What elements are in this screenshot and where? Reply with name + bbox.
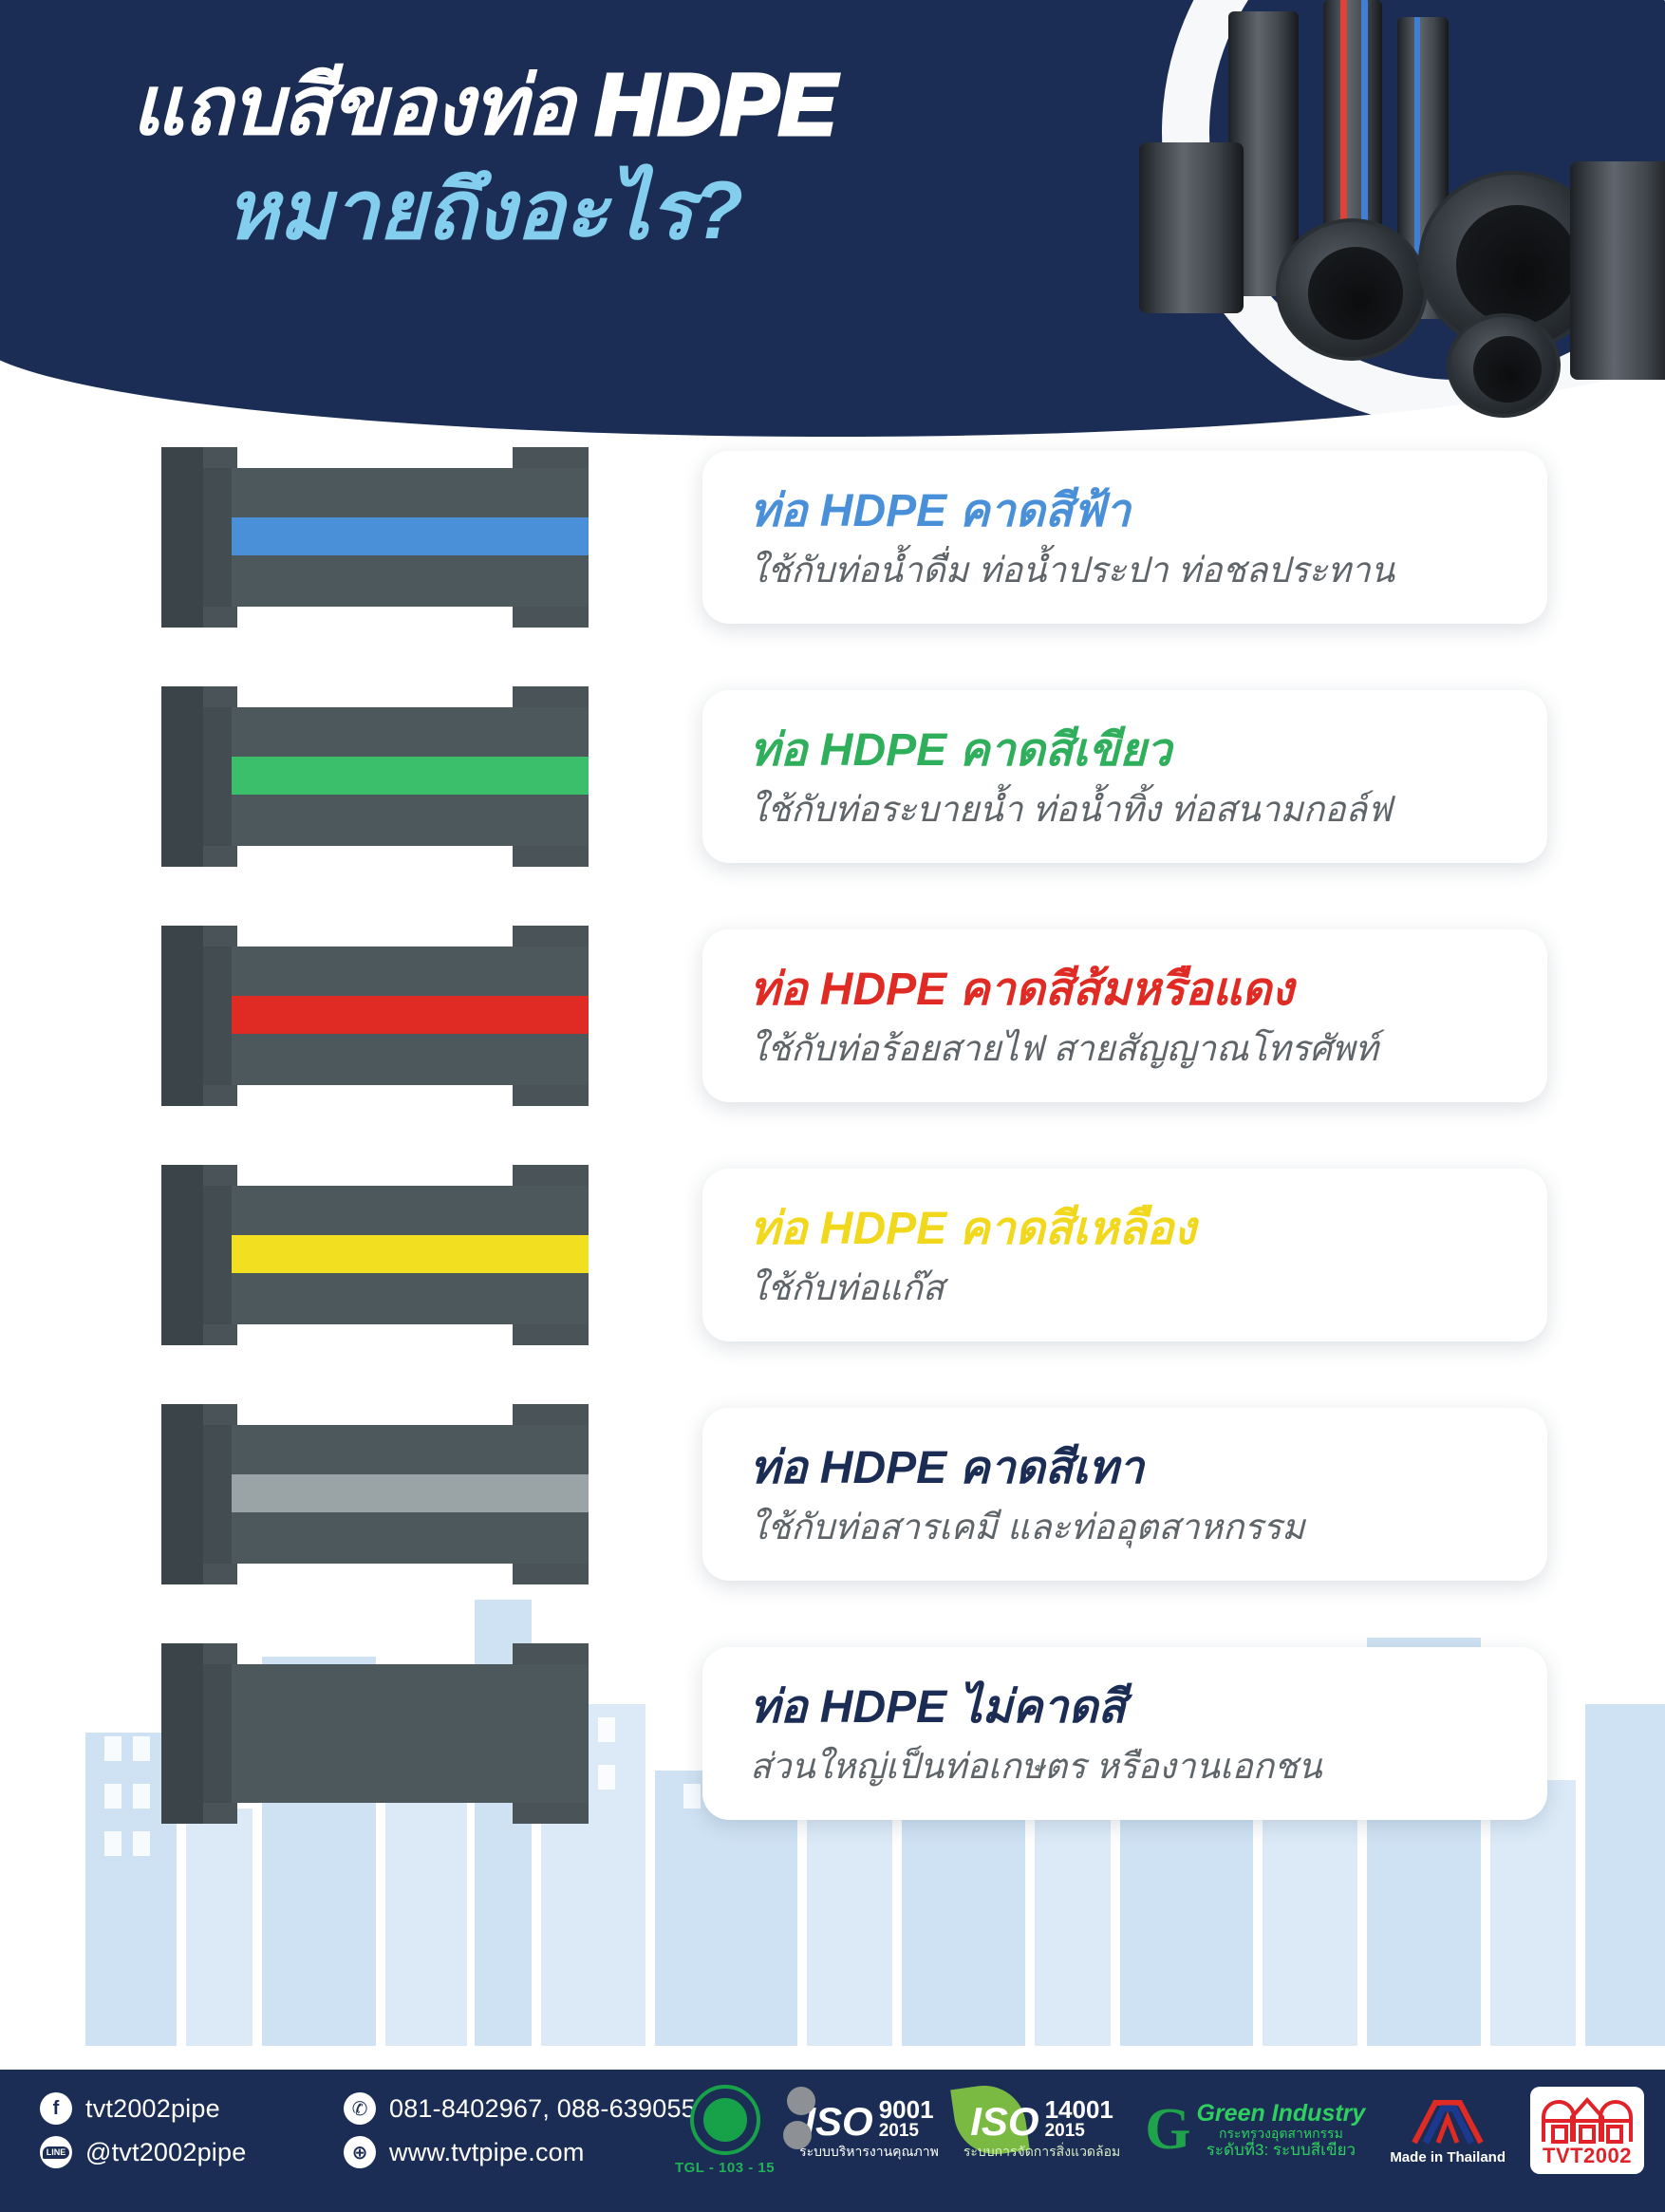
pipe-illustration-blue [161,447,589,628]
info-card-red[interactable]: ท่อ HDPE คาดสีส้มหรือแดง ใช้กับท่อร้อยสา… [702,929,1547,1102]
card-title: ท่อ HDPE คาดสีเขียว [750,722,1509,779]
card-description: ใช้กับท่อร้อยสายไฟ สายสัญญาณโทรศัพท์ [750,1026,1509,1072]
title-block: แถบสีของท่อ HDPE หมายถึงอะไร? [0,55,968,261]
poster-header: แถบสีของท่อ HDPE หมายถึงอะไร? [0,0,1665,446]
title-hdpe: HDPE [596,58,837,153]
pipe-illustration-green [161,686,589,867]
contact-block: f tvt2002pipe ✆ 081-8402967, 088-6390555… [40,2092,710,2168]
certification-logos: TGL - 103 - 15 ISO 9001 2015 ระบบบริหารง… [675,2085,1644,2176]
card-description: ส่วนใหญ่เป็นท่อเกษตร หรืองานเอกชน [750,1744,1509,1790]
pipe-color-list: ท่อ HDPE คาดสีฟ้า ใช้กับท่อน้ำดื่ม ท่อน้… [0,418,1665,1853]
info-card-blue[interactable]: ท่อ HDPE คาดสีฟ้า ใช้กับท่อน้ำดื่ม ท่อน้… [702,451,1547,624]
green-label-code: TGL - 103 - 15 [675,2160,775,2176]
card-title: ท่อ HDPE คาดสีเทา [750,1440,1509,1497]
iso-9001-year: 2015 [879,2122,934,2140]
info-card-gray[interactable]: ท่อ HDPE คาดสีเทา ใช้กับท่อสารเคมี และท่… [702,1408,1547,1581]
iso-14001-year: 2015 [1045,2122,1113,2140]
card-description: ใช้กับท่อระบายน้ำ ท่อน้ำทิ้ง ท่อสนามกอล์… [750,787,1509,833]
info-card-plain[interactable]: ท่อ HDPE ไม่คาดสี ส่วนใหญ่เป็นท่อเกษตร ห… [702,1647,1547,1820]
iso-9001-logo: ISO 9001 2015 ระบบบริหารงานคุณภาพ [799,2098,939,2163]
iso-14001-subtitle: ระบบการจัดการสิ่งแวดล้อม [963,2142,1120,2163]
iso-14001-icon: ISO 14001 2015 [970,2098,1113,2140]
iso-14001-number: 14001 [1045,2098,1113,2122]
green-label-icon [690,2085,760,2155]
hdpe-pipes-photo [1038,0,1665,446]
made-in-thailand-logo: Made in Thailand [1390,2095,1506,2165]
card-title: ท่อ HDPE คาดสีส้มหรือแดง [750,962,1509,1019]
contact-phone[interactable]: ✆ 081-8402967, 088-6390555 [344,2092,710,2125]
list-item: ท่อ HDPE คาดสีส้มหรือแดง ใช้กับท่อร้อยสา… [0,896,1665,1135]
poster-footer: f tvt2002pipe ✆ 081-8402967, 088-6390555… [0,2070,1665,2212]
green-industry-ministry: กระทรวงอุตสาหกรรม [1196,2126,1365,2141]
list-item: ท่อ HDPE ไม่คาดสี ส่วนใหญ่เป็นท่อเกษตร ห… [0,1614,1665,1853]
tvt2002-logo: TVT2002 [1530,2087,1644,2174]
green-label-logo: TGL - 103 - 15 [675,2085,775,2176]
info-card-green[interactable]: ท่อ HDPE คาดสีเขียว ใช้กับท่อระบายน้ำ ท่… [702,690,1547,863]
facebook-icon: f [40,2092,72,2125]
infographic-poster: แถบสีของท่อ HDPE หมายถึงอะไร? ท่อ HDPE ค… [0,0,1665,2212]
green-industry-title: Green Industry [1196,2102,1365,2126]
contact-website-text: www.tvtpipe.com [389,2138,585,2167]
info-card-yellow[interactable]: ท่อ HDPE คาดสีเหลือง ใช้กับท่อแก๊ส [702,1169,1547,1341]
pipe-illustration-plain [161,1643,589,1824]
green-industry-icon: G [1145,2107,1190,2154]
made-in-thailand-label: Made in Thailand [1390,2149,1506,2165]
contact-line-text: @tvt2002pipe [85,2138,246,2167]
globe-icon: ⊕ [344,2136,376,2168]
line-icon: LINE [40,2136,72,2168]
contact-website[interactable]: ⊕ www.tvtpipe.com [344,2136,710,2168]
contact-facebook-text: tvt2002pipe [85,2094,220,2124]
card-description: ใช้กับท่อน้ำดื่ม ท่อน้ำประปา ท่อชลประทาน [750,548,1509,593]
tvt-building-icon [1540,2094,1635,2144]
iso-9001-number: 9001 [879,2098,934,2122]
made-in-thailand-icon [1407,2095,1488,2146]
iso-9001-subtitle: ระบบบริหารงานคุณภาพ [799,2142,939,2163]
green-industry-level: ระดับที่3: ระบบสีเขียว [1196,2141,1365,2160]
contact-phone-text: 081-8402967, 088-6390555 [389,2094,710,2124]
phone-icon: ✆ [344,2092,376,2125]
card-description: ใช้กับท่อแก๊ส [750,1265,1509,1311]
card-title: ท่อ HDPE คาดสีเหลือง [750,1201,1509,1258]
card-title: ท่อ HDPE คาดสีฟ้า [750,483,1509,540]
green-industry-logo: G Green Industry กระทรวงอุตสาหกรรม ระดับ… [1145,2102,1365,2160]
iso-9001-icon: ISO 9001 2015 [804,2098,933,2140]
tvt2002-label: TVT2002 [1543,2144,1632,2168]
card-description: ใช้กับท่อสารเคมี และท่ออุตสาหกรรม [750,1505,1509,1550]
page-title-line-1: แถบสีของท่อ HDPE [0,55,968,156]
pipe-illustration-yellow [161,1165,589,1345]
pipe-illustration-red [161,926,589,1106]
card-title: ท่อ HDPE ไม่คาดสี [750,1679,1509,1736]
contact-facebook[interactable]: f tvt2002pipe [40,2092,315,2125]
iso-14001-logo: ISO 14001 2015 ระบบการจัดการสิ่งแวดล้อม [963,2098,1120,2163]
pipe-illustration-gray [161,1404,589,1584]
contact-line[interactable]: LINE @tvt2002pipe [40,2136,315,2168]
title-thai-prefix: แถบสีของท่อ [131,61,595,152]
list-item: ท่อ HDPE คาดสีเทา ใช้กับท่อสารเคมี และท่… [0,1375,1665,1614]
list-item: ท่อ HDPE คาดสีเหลือง ใช้กับท่อแก๊ส [0,1135,1665,1375]
list-item: ท่อ HDPE คาดสีเขียว ใช้กับท่อระบายน้ำ ท่… [0,657,1665,896]
list-item: ท่อ HDPE คาดสีฟ้า ใช้กับท่อน้ำดื่ม ท่อน้… [0,418,1665,657]
iso-9001-word: ISO [804,2104,872,2140]
iso-14001-word: ISO [970,2104,1038,2140]
page-title-line-2: หมายถึงอะไร? [0,161,968,261]
